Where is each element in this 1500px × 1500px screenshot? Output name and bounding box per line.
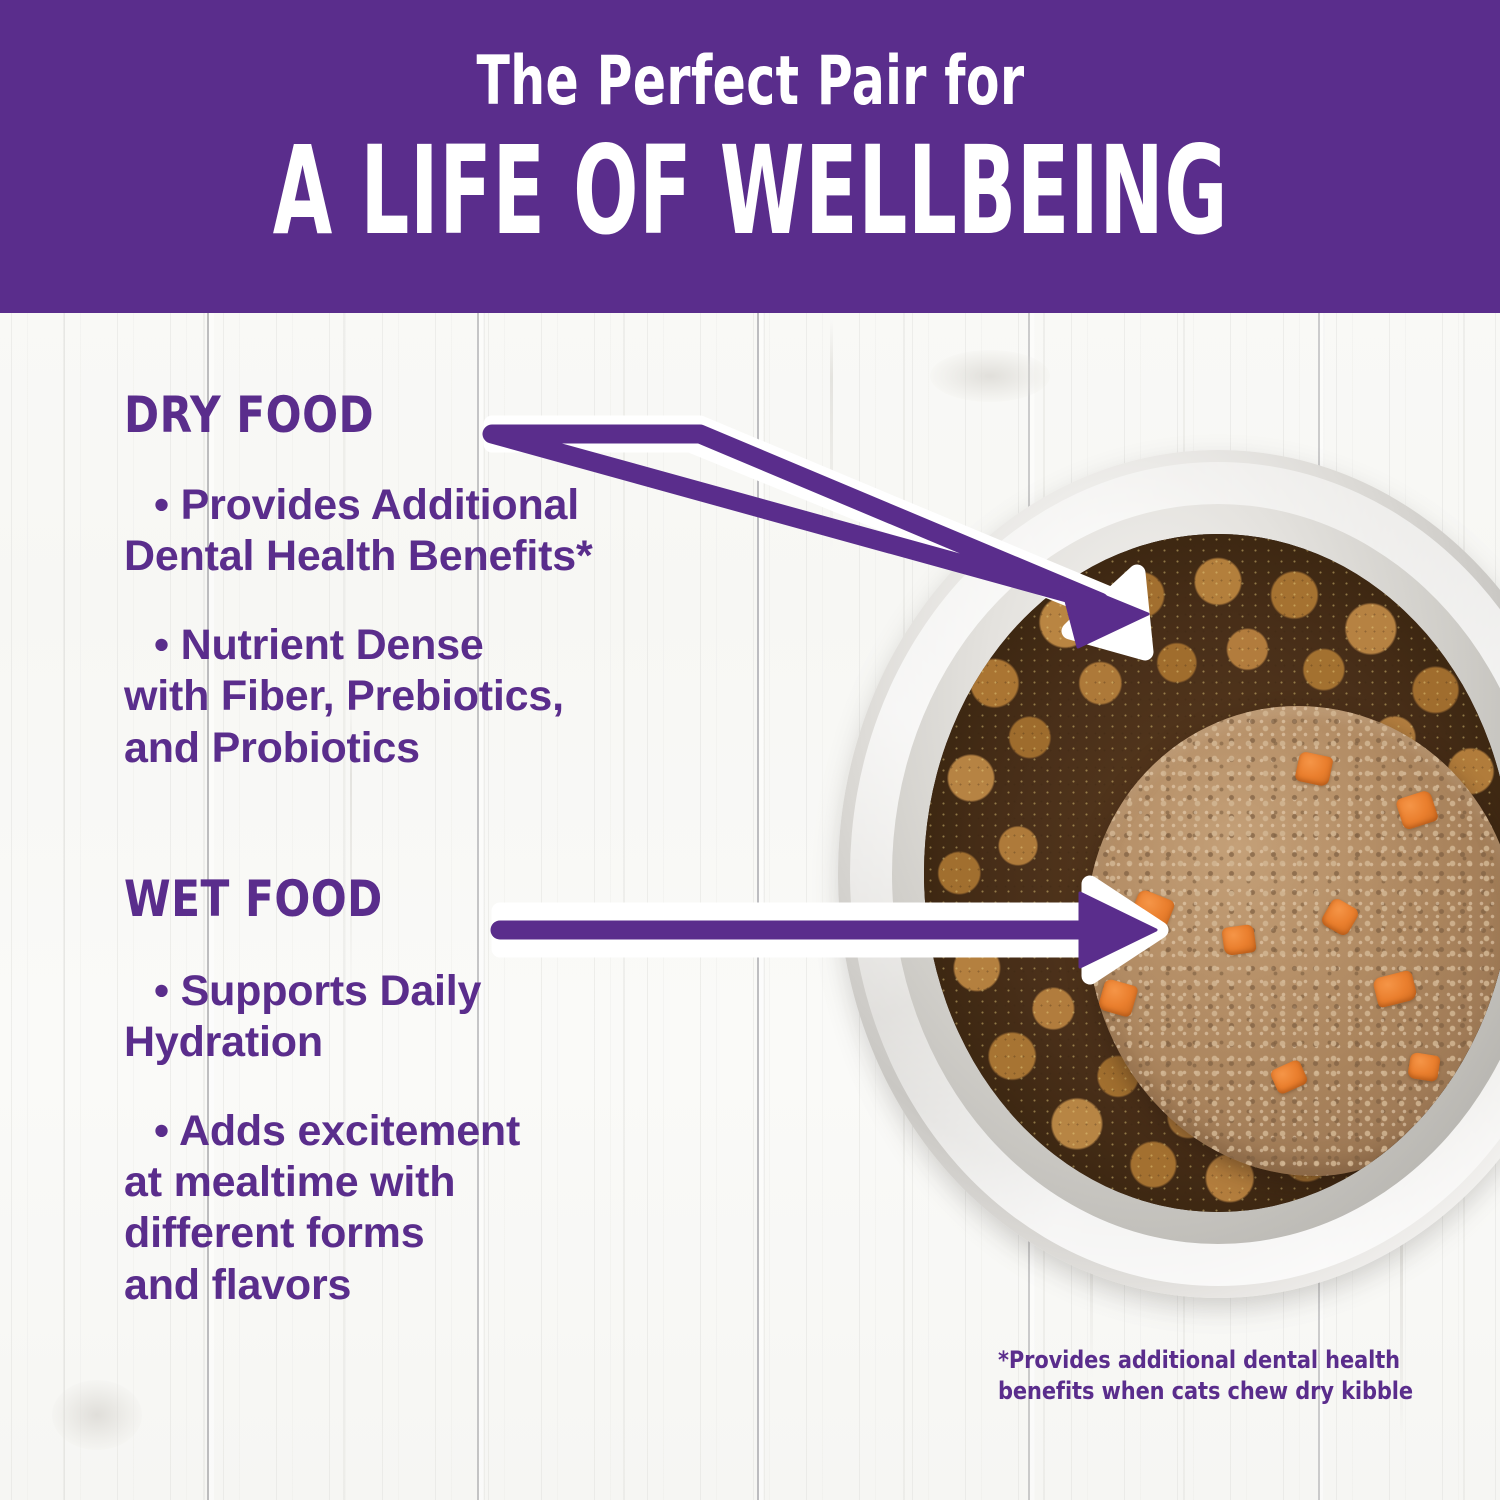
bullet-line: at mealtime with <box>124 1157 824 1208</box>
list-item: • Supports Daily Hydration <box>124 966 824 1068</box>
bullet-line: Hydration <box>124 1017 824 1068</box>
bullet-line: and flavors <box>124 1260 824 1311</box>
bullet-line: • Provides Additional <box>124 480 824 531</box>
footnote-line-1: *Provides additional dental health <box>998 1345 1415 1376</box>
bullet-line: Dental Health Benefits* <box>124 531 824 582</box>
footnote: *Provides additional dental health benef… <box>998 1345 1415 1406</box>
section-heading-wet-food: WET FOOD <box>124 874 782 924</box>
header-eyebrow: The Perfect Pair for <box>476 48 1024 116</box>
list-item: • Adds excitement at mealtime with diffe… <box>124 1106 824 1311</box>
wet-food-bullet-list: • Supports Daily Hydration • Adds excite… <box>124 966 824 1311</box>
bullet-line: and Probiotics <box>124 723 824 774</box>
poster-canvas: The Perfect Pair for A LIFE OF WELLBEING… <box>0 0 1500 1500</box>
bullet-line: • Adds excitement <box>124 1106 824 1157</box>
page-title: A LIFE OF WELLBEING <box>272 130 1227 252</box>
list-item: • Provides Additional Dental Health Bene… <box>124 480 824 582</box>
bullet-line: • Nutrient Dense <box>124 620 824 671</box>
bullet-line: with Fiber, Prebiotics, <box>124 671 824 722</box>
list-item: • Nutrient Dense with Fiber, Prebiotics,… <box>124 620 824 773</box>
benefits-copy-column: DRY FOOD • Provides Additional Dental He… <box>124 390 824 1311</box>
bullet-line: different forms <box>124 1208 824 1259</box>
dry-food-bullet-list: • Provides Additional Dental Health Bene… <box>124 480 824 774</box>
footnote-line-2: benefits when cats chew dry kibble <box>998 1376 1415 1407</box>
bullet-line: • Supports Daily <box>124 966 824 1017</box>
header-band: The Perfect Pair for A LIFE OF WELLBEING <box>0 0 1500 313</box>
section-heading-dry-food: DRY FOOD <box>124 390 782 440</box>
